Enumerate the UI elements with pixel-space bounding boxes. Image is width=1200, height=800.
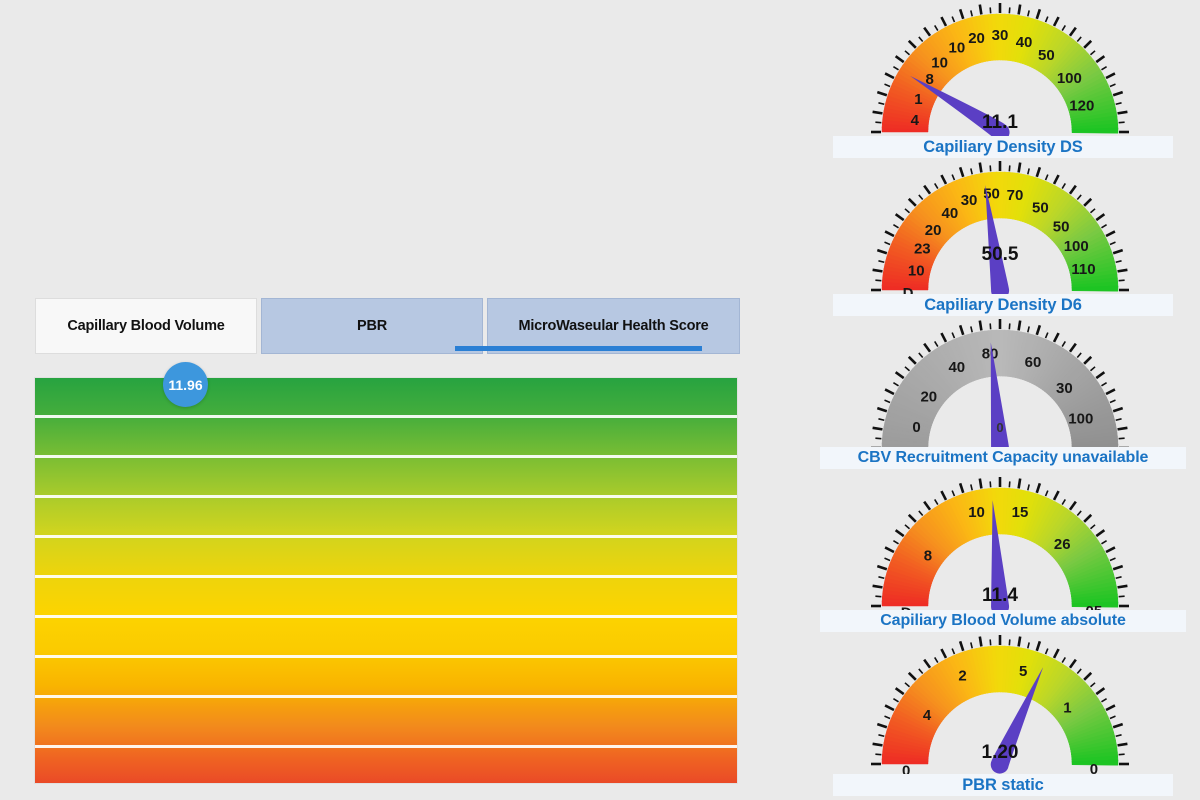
gauge-tick [893, 699, 898, 702]
gauge-tick [1090, 525, 1095, 529]
gauge-tick [935, 25, 938, 30]
chart-gridline [35, 535, 737, 538]
gauge-tick [919, 669, 923, 674]
gauge-tick [1054, 175, 1059, 184]
gauge-panel: 41810102030405010012011.1Capiliary Densi… [800, 0, 1200, 800]
gauge-tick [909, 357, 916, 364]
gauge-tick [1101, 383, 1106, 386]
gauge-tick [905, 367, 910, 371]
gauge-tick [1096, 688, 1104, 694]
gauge-tick [1062, 499, 1065, 504]
gauge-tick [941, 649, 946, 658]
gauge-tick [1077, 669, 1081, 674]
gauge-tick [1101, 699, 1106, 702]
gauge-tick [971, 168, 972, 174]
gauge-tick [896, 530, 904, 536]
gauge-tick [909, 673, 916, 680]
app-root: Capillary Blood Volume PBR MicroWaseular… [0, 0, 1200, 800]
gauge-tick-label: 50 [1053, 219, 1070, 236]
chart-gridline [35, 695, 737, 698]
gauge-tick [1110, 558, 1116, 560]
gauge-tick [885, 389, 894, 394]
gauge-tick-label: 20 [920, 388, 937, 405]
gauge-tick [905, 51, 910, 55]
gauge-tick [1116, 577, 1122, 578]
gauge-tick-label: 100 [1057, 70, 1082, 87]
gauge-tick-label: 30 [961, 192, 978, 209]
gauge-tick [1106, 389, 1115, 394]
gauge-tick [893, 67, 898, 70]
gauge-tick-label: 2 [958, 668, 966, 685]
gauge-tick [873, 270, 883, 272]
gauge-card-capillary-density-d6[interactable]: D102320403050705050100110 [800, 158, 1200, 308]
gauge-tick [1084, 673, 1091, 680]
gauge-tick [896, 688, 904, 694]
gauge-value-capillary-density-ds: 11.1 [800, 112, 1200, 134]
gauge-tick-label: 15 [1012, 504, 1029, 521]
chart-gridline [35, 455, 737, 458]
gauge-value-capillary-density-d6: 50.5 [800, 244, 1200, 266]
gauge-tick-label: 40 [942, 205, 959, 222]
gauge-tick [1101, 225, 1106, 228]
gauge-tick [909, 199, 916, 206]
gauge-tick [1096, 56, 1104, 62]
gauge-tick [971, 642, 972, 648]
gauge-tick-label: 1 [914, 91, 922, 108]
gauge-tick [935, 499, 938, 504]
gauge-tick [1077, 511, 1081, 516]
gauge-tick [971, 326, 972, 332]
gauge-tick [885, 400, 891, 402]
gauge-tick [919, 195, 923, 200]
gauge-tick [1118, 270, 1128, 272]
gauge-tick-label: 80 [982, 346, 999, 363]
gauge-tick [980, 163, 982, 173]
gauge-tick [1070, 660, 1076, 668]
gauge-tick [1028, 326, 1029, 332]
gauge-tick [1113, 408, 1123, 411]
chart-gridline [35, 415, 737, 418]
gauge-tick [952, 649, 954, 655]
gauge-tick-label: 5 [1019, 663, 1027, 680]
gauge-tick [905, 683, 910, 687]
gauge-tick [877, 408, 887, 411]
gauge-tick [1019, 321, 1021, 331]
gauge-tick [924, 660, 930, 668]
gauge-tick [1028, 484, 1029, 490]
gauge-tick-label: 1 [1063, 699, 1071, 716]
gauge-tick-label: 40 [1016, 34, 1033, 51]
gauge-tick [1037, 483, 1040, 493]
gauge-tick [1106, 73, 1115, 78]
gauge-tick [980, 321, 982, 331]
gauge-tick [1054, 649, 1059, 658]
gauge-tick-label: 70 [1007, 187, 1024, 204]
gauge-tick [1101, 67, 1106, 70]
gauge-tick [1062, 341, 1065, 346]
gauge-tick-label: 20 [925, 222, 942, 239]
tab-label: Capillary Blood Volume [67, 318, 224, 334]
gauge-tick [1070, 28, 1076, 36]
gauge-tick [935, 657, 938, 662]
gauge-value-pbr-static: 1.20 [800, 742, 1200, 764]
gauge-tick [1028, 168, 1029, 174]
gauge-tick [1090, 51, 1095, 55]
gauge-tick [941, 175, 946, 184]
gauge-tick [1096, 372, 1104, 378]
gauge-tick-label: 30 [1056, 380, 1073, 397]
gauge-tick [1090, 683, 1095, 687]
gauge-tick [1084, 357, 1091, 364]
gauge-tick [980, 637, 982, 647]
gauge-tick [1113, 92, 1123, 95]
gauge-tick [885, 716, 891, 718]
gauge-tick [1090, 367, 1095, 371]
gauge-tick [1037, 641, 1040, 651]
gauge-tick [1054, 17, 1059, 26]
gauge-tick [885, 547, 894, 552]
gauge-tick-label: 10 [931, 55, 948, 72]
gauge-tick [1106, 705, 1115, 710]
gauge-tick [924, 186, 930, 194]
gauge-tick [1077, 353, 1081, 358]
gauge-tick [1090, 209, 1095, 213]
gauge-tick [896, 56, 904, 62]
gauge-tick [1062, 25, 1065, 30]
gauge-tick [885, 84, 891, 86]
tab-label: PBR [357, 318, 387, 334]
main-content-panel: Capillary Blood Volume PBR MicroWaseular… [0, 0, 800, 800]
gauge-tick [1037, 167, 1040, 177]
gauge-tick [960, 325, 963, 335]
gauge-tick [1096, 530, 1104, 536]
gauge-tick [1110, 716, 1116, 718]
gauge-tick-label: 10 [949, 39, 966, 56]
gauge-tick [980, 479, 982, 489]
gauge-tick [935, 341, 938, 346]
gauge-tick [885, 705, 894, 710]
gauge-tick [896, 372, 904, 378]
gauge-tick-label: 20 [968, 30, 985, 47]
gauge-tick [980, 5, 982, 15]
gauge-tick [877, 92, 887, 95]
gauge-tick [1101, 541, 1106, 544]
gauge-tick [1019, 163, 1021, 173]
gauge-tick [905, 525, 910, 529]
gauge-tick [952, 333, 954, 339]
gauge-tick [1110, 84, 1116, 86]
gauge-tick [1046, 333, 1048, 339]
gauge-tick [941, 333, 946, 342]
tab-capillary-blood-volume[interactable]: Capillary Blood Volume [35, 298, 257, 354]
chart-value-badge[interactable]: 11.96 [163, 362, 208, 407]
gauge-tick-label: 10 [968, 504, 985, 521]
gauge-tick [941, 491, 946, 500]
gauge-tick [1113, 724, 1123, 727]
gauge-tick [1077, 195, 1081, 200]
gauge-tick [1084, 41, 1091, 48]
gauge-tick [1019, 5, 1021, 15]
chart-gridline [35, 495, 737, 498]
gauge-tick [952, 17, 954, 23]
gauge-tick [1046, 491, 1048, 497]
tab-label: MicroWaseular Health Score [518, 318, 708, 334]
gauge-tick [960, 641, 963, 651]
gauge-tick-label: 50 [1032, 199, 1049, 216]
gauge-tick [924, 28, 930, 36]
gauge-tick [960, 167, 963, 177]
gauge-graphic: 02040806030100 [800, 316, 1200, 466]
gauge-label-capillary-density-d6[interactable]: Capiliary Density D6 [833, 294, 1173, 316]
gauge-tick [878, 577, 884, 578]
gauge-tick-label: 40 [948, 359, 965, 376]
chart-gridline [35, 745, 737, 748]
gauge-tick [1037, 325, 1040, 335]
gauge-tick [1077, 37, 1081, 42]
gauge-tick [1037, 9, 1040, 19]
gauge-tick-label: 4 [923, 707, 932, 724]
gauge-dial: D102320403050705050100110 [870, 158, 1130, 308]
capillary-blood-volume-chart[interactable] [35, 378, 737, 783]
gauge-tick-label: 26 [1054, 536, 1071, 553]
chart-gridline [35, 575, 737, 578]
gauge-tick [1113, 566, 1123, 569]
gauge-tick [1054, 491, 1059, 500]
chart-value-badge-text: 11.96 [168, 377, 202, 393]
gauge-dial: 02040806030100 [870, 316, 1130, 466]
gauge-tick-label: 60 [1025, 354, 1042, 371]
gauge-tick [1084, 199, 1091, 206]
gauge-label-cbv-recruitment-capacity[interactable]: CBV Recruitment Capacity unavailable [820, 447, 1186, 469]
gauge-label-capillary-density-ds[interactable]: Capiliary Density DS [833, 136, 1173, 158]
gauge-tick [1116, 735, 1122, 736]
gauge-tick [893, 225, 898, 228]
gauge-tick [878, 103, 884, 104]
gauge-tick [941, 17, 946, 26]
gauge-tick [905, 209, 910, 213]
gauge-tick [1070, 186, 1076, 194]
gauge-tick [919, 353, 923, 358]
gauge-tick [924, 502, 930, 510]
gauge-tick [1084, 515, 1091, 522]
gauge-tick [1062, 183, 1065, 188]
chart-gridline [35, 615, 737, 618]
gauge-value-cbv-recruitment-capacity: 0 [800, 420, 1200, 435]
gauge-tick-label: 50 [1038, 47, 1055, 64]
gauge-tick [885, 73, 894, 78]
gauge-tick [952, 491, 954, 497]
gauge-tick [1070, 344, 1076, 352]
gauge-tick [1054, 333, 1059, 342]
gauge-tick [1019, 479, 1021, 489]
gauge-tick [960, 9, 963, 19]
gauge-tick [1106, 231, 1115, 236]
gauge-tick [935, 183, 938, 188]
gauge-tick [1070, 502, 1076, 510]
gauge-tick [878, 735, 884, 736]
gauge-tick [952, 175, 954, 181]
gauge-label-capillary-blood-volume-absolute[interactable]: Capiliary Blood Volume absolute [820, 610, 1186, 632]
gauge-tick [877, 566, 887, 569]
gauge-tick-label: 8 [924, 548, 932, 565]
gauge-tick [1046, 175, 1048, 181]
gauge-tick [896, 214, 904, 220]
gauge-tick [919, 37, 923, 42]
chart-gridline [35, 655, 737, 658]
gauge-tick [971, 10, 972, 16]
gauge-tick [1019, 637, 1021, 647]
gauge-value-capillary-blood-volume-absolute: 11.4 [800, 585, 1200, 607]
gauge-label-pbr-static[interactable]: PBR static [833, 774, 1173, 796]
tab-active-underline [455, 346, 702, 351]
gauge-tick [1046, 17, 1048, 23]
gauge-tick [885, 558, 891, 560]
gauge-tick [1116, 103, 1122, 104]
tab-pbr[interactable]: PBR [261, 298, 483, 354]
gauge-tick [1096, 214, 1104, 220]
gauge-tick-label: 30 [992, 27, 1009, 44]
gauge-tick [971, 484, 972, 490]
gauge-tick [1028, 10, 1029, 16]
gauge-tick [919, 511, 923, 516]
gauge-tick [1046, 649, 1048, 655]
gauge-tick [885, 231, 894, 236]
gauge-tick [960, 483, 963, 493]
gauge-graphic: D102320403050705050100110 [800, 158, 1200, 308]
gauge-tick [893, 383, 898, 386]
gauge-tick [1028, 642, 1029, 648]
gauge-tick [924, 344, 930, 352]
gauge-card-cbv-recruitment-capacity[interactable]: 02040806030100 [800, 316, 1200, 466]
gauge-tick [877, 724, 887, 727]
gauge-tick [909, 515, 916, 522]
gauge-tick [909, 41, 916, 48]
gauge-tick [1110, 400, 1116, 402]
gauge-tick [1062, 657, 1065, 662]
gauge-tick [893, 541, 898, 544]
gauge-tick [1106, 547, 1115, 552]
